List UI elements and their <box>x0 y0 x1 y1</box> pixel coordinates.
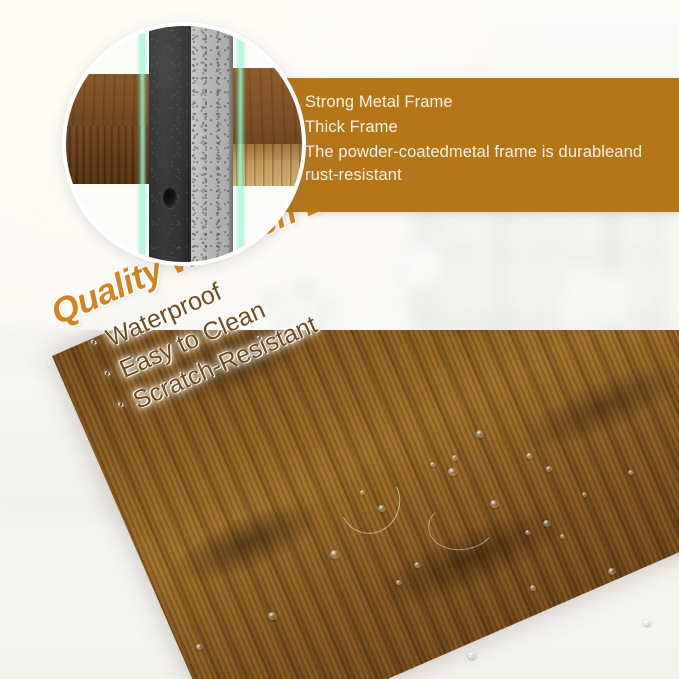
water-droplet <box>546 466 552 472</box>
metal-post-side-face <box>191 22 231 266</box>
screw-hole-icon <box>163 188 177 208</box>
water-droplet <box>414 562 421 568</box>
banner-bullet: The powder-coatedmetal frame is durablea… <box>292 141 663 189</box>
water-droplet <box>560 534 565 539</box>
water-droplet <box>525 530 531 535</box>
water-droplet <box>526 453 533 459</box>
highlight-beam-icon <box>138 22 147 266</box>
water-droplet <box>530 585 536 591</box>
detail-inset-content <box>66 26 302 262</box>
water-droplet <box>628 470 634 475</box>
highlight-beam-icon <box>236 22 245 266</box>
banner-bullet-list: Strong Metal Frame Thick Frame The powde… <box>265 78 679 188</box>
banner-bullet: Thick Frame <box>292 116 663 140</box>
metal-post-front-face <box>149 22 191 266</box>
water-trail <box>332 462 409 541</box>
metal-post-edge <box>229 22 233 266</box>
water-droplet <box>452 455 458 461</box>
water-droplet <box>430 462 436 467</box>
water-droplet <box>468 652 476 659</box>
water-droplet <box>582 492 587 497</box>
metal-frame-detail-inset <box>62 22 306 266</box>
water-droplet <box>196 644 203 650</box>
water-droplet <box>330 550 340 559</box>
feature-banner: Strong Metal Frame Thick Frame The powde… <box>265 78 679 212</box>
water-droplet <box>396 580 402 585</box>
water-droplet <box>476 430 484 438</box>
water-trail <box>425 496 499 555</box>
water-droplet <box>543 520 551 527</box>
water-droplet <box>608 568 616 575</box>
water-droplet <box>490 500 499 508</box>
water-droplet <box>448 468 457 476</box>
water-droplet <box>268 612 277 620</box>
product-feature-image: Quality Wooden Board Waterproof Easy to … <box>0 0 679 679</box>
water-droplet <box>644 620 651 626</box>
banner-bullet: Strong Metal Frame <box>292 91 663 115</box>
